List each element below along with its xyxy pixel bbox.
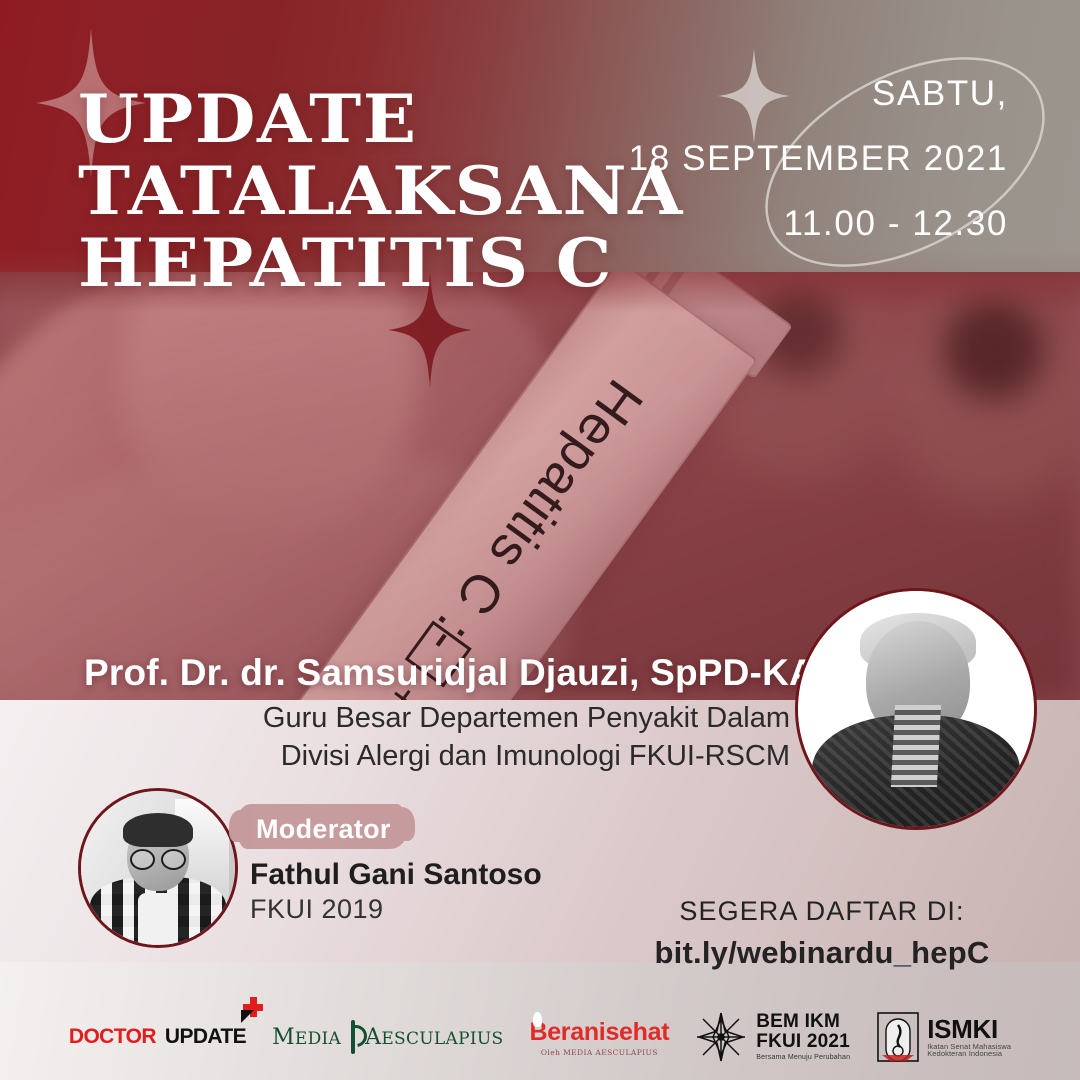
glasses-icon (130, 849, 186, 866)
registration-caption: SEGERA DAFTAR DI: (612, 896, 1032, 927)
event-day: SABTU, (588, 76, 1008, 111)
logo-media-aesculapius: MEDIA AESCULAPIUS (272, 1008, 503, 1066)
registration-block: SEGERA DAFTAR DI: bit.ly/webinardu_hepC (612, 896, 1032, 971)
moderator-avatar (78, 788, 238, 948)
logo-bem-ikm-fkui: BEM IKM FKUI 2021 Bersama Menuju Perubah… (695, 1008, 850, 1066)
speaker-affiliation-line-1: Guru Besar Departemen Penyakit Dalam (0, 700, 790, 738)
event-time: 11.00 - 12.30 (588, 206, 1008, 241)
speaker-affiliation: Guru Besar Departemen Penyakit Dalam Div… (0, 700, 790, 775)
rod-of-asclepius-icon (345, 1020, 361, 1054)
logo-bem-tagline: Bersama Menuju Perubahan (756, 1054, 850, 1061)
moderator-label-group: Moderator (246, 810, 401, 849)
logo-doctor-update-word-2: UPDATE (165, 1025, 246, 1049)
logo-media-aesculapius-word-2: AESCULAPIUS (365, 1025, 503, 1050)
event-datetime: SABTU, 18 SEPTEMBER 2021 11.00 - 12.30 (588, 76, 1008, 241)
speaker-avatar (795, 588, 1037, 830)
moderator-portrait-hair (123, 813, 193, 847)
registration-link[interactable]: bit.ly/webinardu_hepC (612, 935, 1032, 971)
speaker-affiliation-line-2: Divisi Alergi dan Imunologi FKUI-RSCM (0, 738, 790, 776)
compass-star-icon (695, 1011, 747, 1063)
event-date: 18 SEPTEMBER 2021 (588, 141, 1008, 176)
logo-bem-line-1: BEM IKM (756, 1012, 850, 1032)
speaker-name: Prof. Dr. dr. Samsuridjal Djauzi, SpPD-K… (84, 652, 884, 694)
logo-beranisehat-sub: Oleh MEDIA AESCULAPIUS (529, 1048, 669, 1057)
person-glyph-icon (533, 1012, 542, 1027)
logo-doctor-update-word-1: DOCTOR (69, 1025, 156, 1049)
logo-bem-line-2: FKUI 2021 (756, 1032, 850, 1052)
speaker-portrait (798, 591, 1034, 827)
moderator-org: FKUI 2019 (250, 894, 384, 925)
ismki-emblem-icon (876, 1011, 920, 1063)
logo-beranisehat: Beranisehat Oleh MEDIA AESCULAPIUS (529, 1008, 669, 1066)
logo-beranisehat-name: Beranisehat (529, 1018, 669, 1047)
arrow-triangle-icon (241, 1010, 254, 1023)
sponsor-logo-bar: DOCTOR UPDATE MEDIA AESCULAPIUS Beranise… (0, 1006, 1080, 1068)
speaker-portrait-collar (891, 705, 941, 787)
moderator-label: Moderator (246, 810, 401, 849)
logo-ismki-name: ISMKI (927, 1016, 1011, 1043)
moderator-name: Fathul Gani Santoso (250, 858, 542, 892)
logo-ismki: ISMKI Ikatan Senat Mahasiswa Kedokteran … (876, 1008, 1011, 1066)
logo-doctor-update: DOCTOR UPDATE (69, 1008, 246, 1066)
logo-media-aesculapius-word-1: MEDIA (272, 1025, 341, 1050)
moderator-portrait-tshirt (138, 893, 178, 948)
logo-ismki-sub-2: Kedokteran Indonesia (927, 1050, 1011, 1058)
webinar-poster: Hepatitis C :- + UPDATE (0, 0, 1080, 1080)
